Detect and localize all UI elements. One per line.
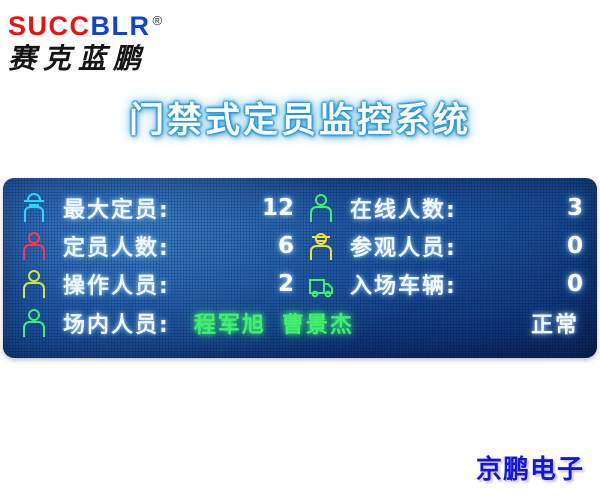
led-value: 2	[260, 271, 294, 297]
led-label: 最大定员:	[63, 192, 260, 224]
led-value: 6	[260, 233, 294, 259]
led-row: 操作人员: 2 入场车辆: 0	[21, 265, 583, 303]
led-value: 3	[549, 195, 583, 221]
led-label: 在线人数:	[350, 192, 549, 224]
roster-name: 程军旭	[194, 313, 266, 338]
led-cell-max-capacity: 最大定员: 12	[21, 192, 302, 224]
person-icon	[21, 231, 47, 261]
led-cell-vehicle-count: 入场车辆: 0	[302, 268, 583, 300]
led-rows: 最大定员: 12 在线人数: 3	[3, 178, 597, 343]
led-display-panel: 最大定员: 12 在线人数: 3	[3, 178, 597, 358]
brand-wordmark-succ: SUCC	[8, 11, 91, 41]
led-cell-visitor-count: 参观人员: 0	[302, 230, 583, 262]
led-value: 0	[549, 271, 583, 297]
person-icon	[308, 193, 334, 223]
led-cell-online-count: 在线人数: 3	[302, 192, 583, 224]
led-label: 场内人员:	[63, 307, 170, 339]
led-cell-operator-count: 操作人员: 2	[21, 268, 302, 300]
led-label: 参观人员:	[350, 230, 549, 262]
person-icon	[21, 308, 47, 338]
led-label: 定员人数:	[63, 230, 260, 262]
brand-wordmark: SUCCBLR®	[8, 6, 228, 41]
registered-trademark-icon: ®	[153, 13, 163, 28]
led-value: 12	[260, 195, 294, 221]
person-icon	[21, 269, 47, 299]
truck-icon	[308, 269, 334, 299]
status-badge: 正常	[531, 307, 583, 339]
led-cell-assigned-count: 定员人数: 6	[21, 230, 302, 262]
brand-logo: SUCCBLR® 赛克蓝鹏	[8, 6, 228, 76]
roster-name: 曹景杰	[282, 313, 354, 338]
led-cell-onsite-personnel: 场内人员: 程军旭曹景杰 正常	[21, 307, 583, 339]
led-row: 定员人数: 6 参观人员: 0	[21, 227, 583, 265]
led-row-roster: 场内人员: 程军旭曹景杰 正常	[21, 303, 583, 343]
led-row: 最大定员: 12 在线人数: 3	[21, 189, 583, 227]
brand-chinese-name: 赛克蓝鹏	[8, 42, 228, 76]
brand-wordmark-blr: BLR	[91, 11, 151, 41]
led-label: 入场车辆:	[350, 268, 549, 300]
footer-company-name: 京鹏电子	[476, 449, 584, 486]
person-with-helmet-icon	[21, 193, 47, 223]
led-label: 操作人员:	[63, 268, 260, 300]
page-title: 门禁式定员监控系统	[0, 92, 600, 143]
led-value: 0	[549, 233, 583, 259]
roster-name-list: 程军旭曹景杰	[194, 307, 531, 339]
person-with-cap-icon	[308, 231, 334, 261]
